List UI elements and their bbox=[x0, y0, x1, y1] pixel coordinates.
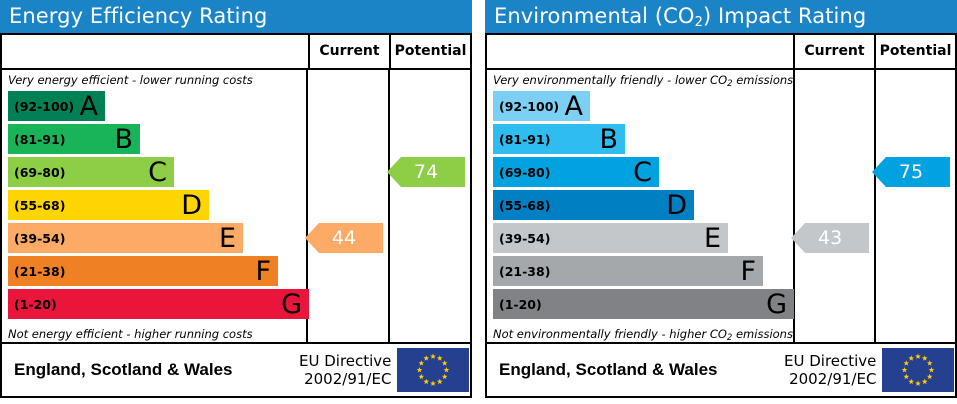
rating-band-f: (21-38)F bbox=[8, 256, 278, 286]
rating-band-e: (39-54)E bbox=[493, 223, 728, 253]
rating-band-letter: D bbox=[181, 192, 209, 219]
environmental-impact-caption-top-tail: emissions bbox=[733, 73, 794, 87]
energy-efficiency-title: Energy Efficiency Rating bbox=[0, 0, 472, 33]
environmental-impact-caption-bottom-text: Not environmentally friendly - higher CO bbox=[493, 327, 727, 341]
rating-band-letter: G bbox=[281, 291, 309, 318]
rating-band-g: (1-20)G bbox=[8, 289, 309, 319]
rating-band-range: (81-91) bbox=[493, 132, 550, 147]
environmental-impact-header-row: Current Potential bbox=[487, 35, 955, 70]
environmental-impact-current-header: Current bbox=[795, 35, 876, 68]
environmental-impact-panel: Environmental (CO2) Impact Rating Curren… bbox=[485, 0, 957, 404]
eu-stars bbox=[882, 348, 954, 392]
environmental-impact-caption-top-text: Very environmentally friendly - lower CO bbox=[493, 73, 727, 87]
rating-band-a: (92-100)A bbox=[8, 91, 105, 121]
energy-efficiency-footer-directive: EU Directive 2002/91/EC bbox=[299, 352, 397, 388]
rating-band-letter: A bbox=[80, 93, 105, 120]
environmental-impact-header-blank bbox=[487, 35, 795, 68]
energy-efficiency-current-header: Current bbox=[310, 35, 391, 68]
energy-efficiency-directive-line2: 2002/91/EC bbox=[299, 370, 391, 388]
rating-band-range: (1-20) bbox=[8, 297, 57, 312]
rating-band-b: (81-91)B bbox=[493, 124, 625, 154]
rating-band-range: (21-38) bbox=[8, 264, 65, 279]
energy-efficiency-footer: England, Scotland & Wales EU Directive 2… bbox=[2, 344, 470, 396]
environmental-impact-title-tail: ) Impact Rating bbox=[703, 4, 866, 28]
rating-band-range: (69-80) bbox=[8, 165, 65, 180]
rating-band-letter: F bbox=[740, 258, 763, 285]
current-rating-marker: 43 bbox=[791, 223, 869, 253]
rating-band-range: (1-20) bbox=[493, 297, 542, 312]
environmental-impact-band-list: (92-100)A(81-91)B(69-80)C(55-68)D(39-54)… bbox=[487, 91, 793, 324]
rating-band-range: (55-68) bbox=[493, 198, 550, 213]
rating-band-range: (39-54) bbox=[493, 231, 550, 246]
rating-band-letter: E bbox=[704, 225, 728, 252]
environmental-impact-title: Environmental (CO2) Impact Rating bbox=[485, 0, 957, 33]
potential-rating-marker: 75 bbox=[872, 157, 950, 187]
energy-efficiency-current-column: 44 bbox=[308, 70, 390, 342]
energy-efficiency-footer-region: England, Scotland & Wales bbox=[2, 360, 299, 380]
environmental-impact-title-text: Environmental (CO bbox=[494, 4, 695, 28]
rating-band-c: (69-80)C bbox=[8, 157, 174, 187]
rating-band-letter: A bbox=[565, 93, 590, 120]
rating-band-d: (55-68)D bbox=[8, 190, 209, 220]
current-rating-marker: 44 bbox=[305, 223, 383, 253]
energy-efficiency-header-blank bbox=[2, 35, 310, 68]
energy-efficiency-title-text: Energy Efficiency Rating bbox=[9, 4, 267, 28]
environmental-impact-caption-bottom-subscript: 2 bbox=[727, 333, 732, 343]
rating-band-range: (92-100) bbox=[493, 99, 559, 114]
environmental-impact-bands-column: Very environmentally friendly - lower CO… bbox=[487, 70, 795, 342]
rating-band-range: (55-68) bbox=[8, 198, 65, 213]
rating-band-range: (39-54) bbox=[8, 231, 65, 246]
rating-band-letter: B bbox=[114, 126, 140, 153]
environmental-impact-footer-directive: EU Directive 2002/91/EC bbox=[784, 352, 882, 388]
environmental-impact-caption-bottom-tail: emissions bbox=[732, 327, 793, 341]
energy-efficiency-band-list: (92-100)A(81-91)B(69-80)C(55-68)D(39-54)… bbox=[2, 91, 306, 324]
rating-band-range: (81-91) bbox=[8, 132, 65, 147]
energy-efficiency-body-row: Very energy efficient - lower running co… bbox=[2, 70, 470, 344]
energy-efficiency-grid: Current Potential Very energy efficient … bbox=[0, 33, 472, 398]
environmental-impact-footer-region: England, Scotland & Wales bbox=[487, 360, 784, 380]
rating-band-letter: E bbox=[219, 225, 243, 252]
rating-band-range: (21-38) bbox=[493, 264, 550, 279]
epc-rating-charts: Energy Efficiency Rating Current Potenti… bbox=[0, 0, 957, 404]
environmental-impact-caption-bottom: Not environmentally friendly - higher CO… bbox=[487, 324, 793, 344]
environmental-impact-directive-line1: EU Directive bbox=[784, 352, 876, 370]
rating-band-letter: D bbox=[666, 192, 694, 219]
environmental-impact-title-subscript: 2 bbox=[695, 15, 703, 30]
rating-band-c: (69-80)C bbox=[493, 157, 659, 187]
energy-efficiency-header-row: Current Potential bbox=[2, 35, 470, 70]
environmental-impact-directive-line2: 2002/91/EC bbox=[784, 370, 876, 388]
energy-efficiency-potential-column: 74 bbox=[390, 70, 470, 342]
potential-rating-marker: 74 bbox=[387, 157, 465, 187]
environmental-impact-grid: Current Potential Very environmentally f… bbox=[485, 33, 957, 398]
energy-efficiency-panel: Energy Efficiency Rating Current Potenti… bbox=[0, 0, 472, 404]
rating-band-g: (1-20)G bbox=[493, 289, 794, 319]
rating-band-a: (92-100)A bbox=[493, 91, 590, 121]
rating-band-letter: B bbox=[599, 126, 625, 153]
rating-band-e: (39-54)E bbox=[8, 223, 243, 253]
environmental-impact-footer: England, Scotland & Wales EU Directive 2… bbox=[487, 344, 955, 396]
rating-band-f: (21-38)F bbox=[493, 256, 763, 286]
rating-band-letter: C bbox=[633, 159, 659, 186]
energy-efficiency-caption-top: Very energy efficient - lower running co… bbox=[2, 70, 306, 91]
eu-flag-icon bbox=[397, 348, 469, 392]
energy-efficiency-caption-bottom: Not energy efficient - higher running co… bbox=[2, 324, 306, 344]
eu-stars bbox=[397, 348, 469, 392]
rating-band-d: (55-68)D bbox=[493, 190, 694, 220]
energy-efficiency-directive-line1: EU Directive bbox=[299, 352, 391, 370]
environmental-impact-current-column: 43 bbox=[795, 70, 876, 342]
rating-band-b: (81-91)B bbox=[8, 124, 140, 154]
energy-efficiency-caption-bottom-text: Not energy efficient - higher running co… bbox=[8, 327, 253, 341]
environmental-impact-body-row: Very environmentally friendly - lower CO… bbox=[487, 70, 955, 344]
environmental-impact-potential-column: 75 bbox=[876, 70, 955, 342]
rating-band-letter: G bbox=[766, 291, 794, 318]
environmental-impact-potential-header: Potential bbox=[876, 35, 955, 68]
rating-band-letter: C bbox=[148, 159, 174, 186]
eu-flag-icon bbox=[882, 348, 954, 392]
rating-band-letter: F bbox=[255, 258, 278, 285]
energy-efficiency-potential-header: Potential bbox=[391, 35, 470, 68]
rating-band-range: (92-100) bbox=[8, 99, 74, 114]
rating-band-range: (69-80) bbox=[493, 165, 550, 180]
environmental-impact-caption-top: Very environmentally friendly - lower CO… bbox=[487, 70, 793, 91]
energy-efficiency-caption-top-text: Very energy efficient - lower running co… bbox=[8, 73, 253, 87]
energy-efficiency-bands-column: Very energy efficient - lower running co… bbox=[2, 70, 308, 342]
environmental-impact-caption-top-subscript: 2 bbox=[727, 79, 732, 89]
